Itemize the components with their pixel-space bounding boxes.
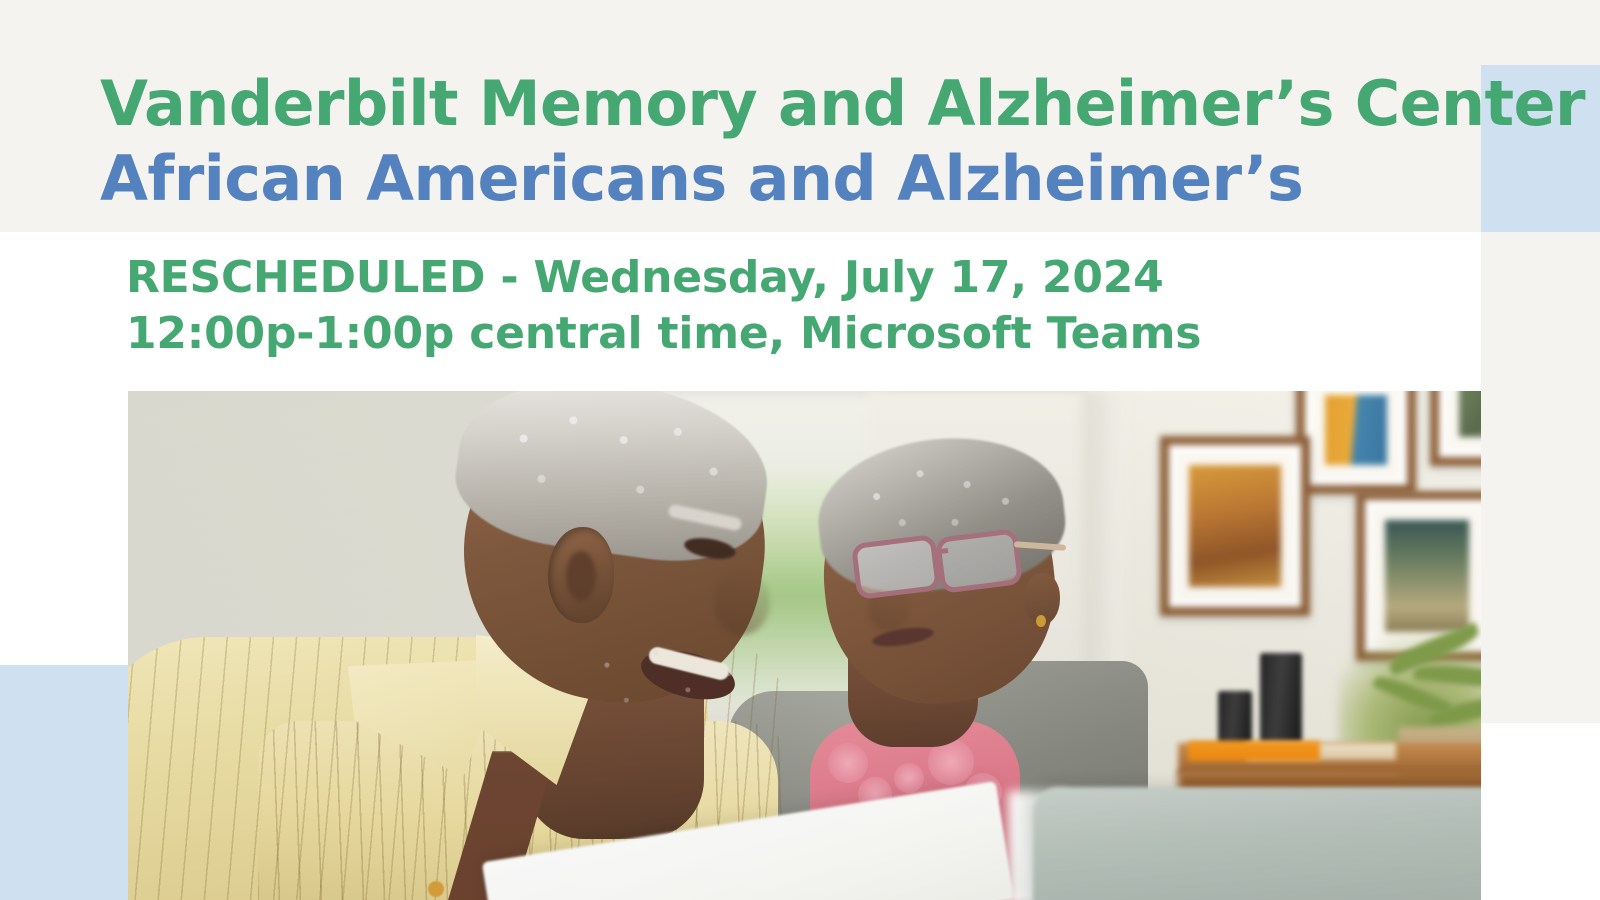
- eyeglasses-lens-right: [935, 528, 1023, 594]
- eyeglasses-lens-left: [851, 534, 941, 600]
- shirt-button: [428, 881, 444, 897]
- frame-artwork: [1385, 520, 1469, 632]
- framed-artwork: [1160, 436, 1310, 616]
- event-photo: [128, 391, 1481, 900]
- program-topic-title: African Americans and Alzheimer’s: [100, 143, 1303, 215]
- floral-trim: [828, 743, 868, 783]
- frame-artwork: [1325, 395, 1387, 465]
- title-block: Vanderbilt Memory and Alzheimer’s Center…: [0, 0, 1481, 232]
- framed-artwork: [1296, 391, 1416, 494]
- event-date-line: RESCHEDULED - Wednesday, July 17, 2024: [126, 250, 1164, 306]
- man-ear-inner: [566, 551, 596, 601]
- black-candle: [1260, 653, 1302, 748]
- frame-artwork: [1189, 465, 1281, 587]
- event-details-block: RESCHEDULED - Wednesday, July 17, 2024 1…: [0, 232, 1481, 382]
- woman-earring: [1036, 615, 1046, 627]
- right-column-beige-block: [1481, 232, 1600, 723]
- floral-trim: [894, 763, 924, 793]
- frame-artwork: [1459, 391, 1481, 437]
- laptop-lid: [1033, 787, 1481, 900]
- black-candle: [1218, 691, 1252, 747]
- framed-artwork: [1430, 391, 1481, 466]
- right-column-white-block: [1481, 723, 1600, 900]
- center-name-title: Vanderbilt Memory and Alzheimer’s Center: [100, 68, 1585, 140]
- orange-book: [1188, 741, 1320, 761]
- flyer-canvas: Vanderbilt Memory and Alzheimer’s Center…: [0, 0, 1600, 900]
- blue-square-bottom-left: [0, 665, 128, 900]
- event-time-platform-line: 12:00p-1:00p central time, Microsoft Tea…: [126, 306, 1201, 362]
